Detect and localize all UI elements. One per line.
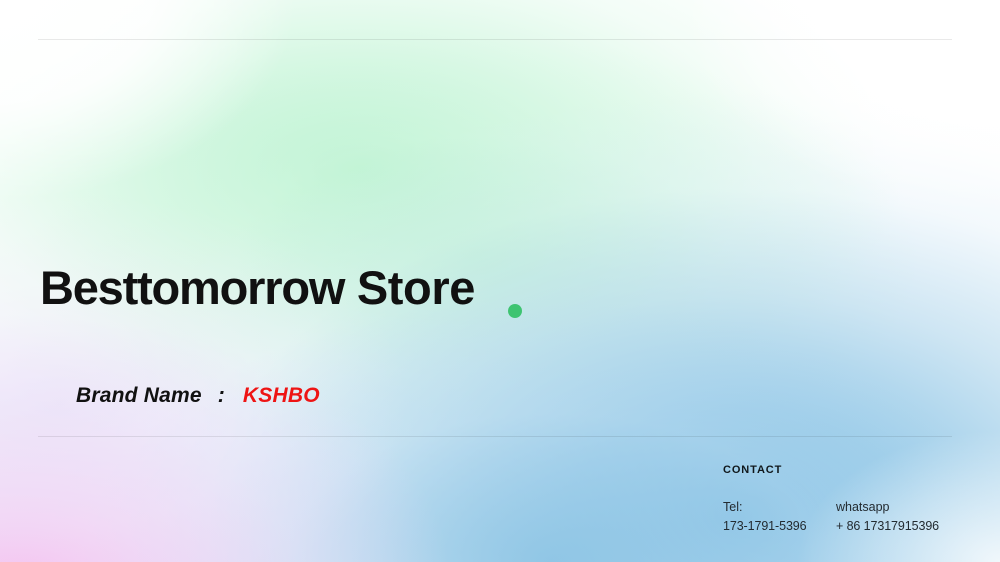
brand-name-separator: : bbox=[218, 384, 225, 407]
slide-canvas: Besttomorrow Store Brand Name:KSHBO CONT… bbox=[0, 0, 1000, 562]
brand-name-label: Brand Name bbox=[76, 384, 202, 407]
page-title: Besttomorrow Store bbox=[40, 263, 475, 314]
contact-whatsapp-value[interactable]: + 86 17317915396 bbox=[836, 517, 949, 536]
contact-column-whatsapp: whatsapp + 86 17317915396 bbox=[836, 498, 949, 537]
page-title-light: Store bbox=[344, 261, 475, 314]
contact-whatsapp-label: whatsapp bbox=[836, 498, 949, 517]
contact-block: CONTACT Tel: 173-1791-5396 whatsapp + 86… bbox=[723, 464, 949, 537]
top-divider-rule bbox=[38, 39, 952, 40]
contact-columns: Tel: 173-1791-5396 whatsapp + 86 1731791… bbox=[723, 498, 949, 537]
page-title-strong: Besttomorrow bbox=[40, 261, 344, 314]
bottom-divider-rule bbox=[38, 436, 952, 437]
contact-tel-label: Tel: bbox=[723, 498, 836, 517]
green-dot-icon bbox=[508, 304, 522, 318]
contact-heading: CONTACT bbox=[723, 464, 949, 476]
brand-name-value: KSHBO bbox=[243, 384, 320, 407]
contact-tel-value[interactable]: 173-1791-5396 bbox=[723, 517, 836, 536]
brand-name-line: Brand Name:KSHBO bbox=[76, 384, 320, 408]
contact-column-tel: Tel: 173-1791-5396 bbox=[723, 498, 836, 537]
